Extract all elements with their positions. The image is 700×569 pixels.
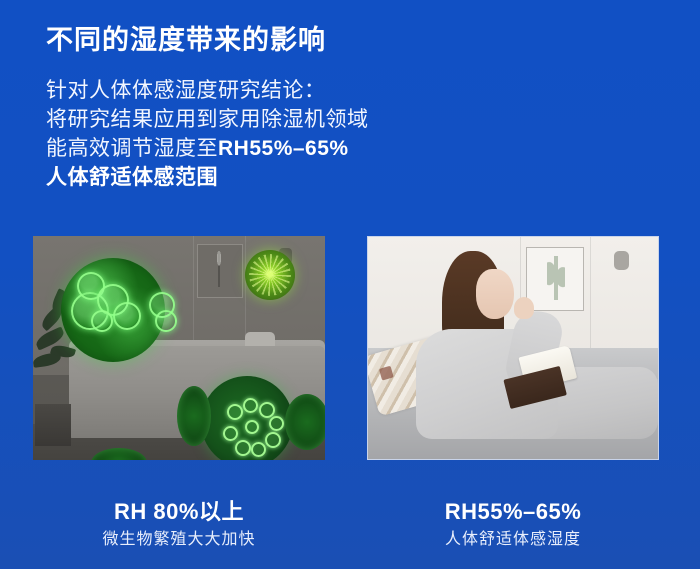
germ-partial-left xyxy=(177,386,211,446)
spore-8 xyxy=(223,426,238,441)
caption-title-left: RH 80%以上 xyxy=(33,498,325,526)
spore-7 xyxy=(235,440,251,456)
bacteria-cell-edge-2 xyxy=(155,310,177,332)
bacteria-cell-5 xyxy=(91,310,113,332)
body-copy-line-2: 将研究结果应用到家用除湿机领域 xyxy=(46,105,606,134)
bacteria-cell-4 xyxy=(113,302,141,330)
caption-sub-right: 人体舒适体感湿度 xyxy=(367,529,659,551)
woman-face xyxy=(476,269,514,319)
page-title: 不同的湿度带来的影响 xyxy=(46,18,326,57)
virus-sphere-small xyxy=(245,250,295,300)
spore-2 xyxy=(243,398,258,413)
wall-art-frame-dark xyxy=(197,244,243,298)
body-copy-line-4: 人体舒适体感范围 xyxy=(46,163,606,192)
body-copy-line-3: 能高效调节湿度至RH55%–65% xyxy=(46,134,606,163)
spore-5 xyxy=(265,432,281,448)
spore-1 xyxy=(227,404,243,420)
caption-comfort-humidity: RH55%–65% 人体舒适体感湿度 xyxy=(367,498,659,551)
bright-room-scene xyxy=(368,237,658,459)
caption-high-humidity: RH 80%以上 微生物繁殖大大加快 xyxy=(33,498,325,551)
wall-knob-bright xyxy=(614,251,629,270)
spore-9 xyxy=(245,420,259,434)
body-copy-line-1: 针对人体体感湿度研究结论： xyxy=(46,76,606,105)
spore-6 xyxy=(251,442,266,457)
cactus-artwork-icon xyxy=(547,256,565,300)
spore-sphere-bottom xyxy=(201,376,293,460)
dark-room-scene xyxy=(33,236,325,460)
spore-4 xyxy=(269,416,284,431)
photo-high-humidity xyxy=(33,236,325,460)
humidity-infographic-poster: 不同的湿度带来的影响 针对人体体感湿度研究结论： 将研究结果应用到家用除湿机领域… xyxy=(0,0,700,569)
photo-comfort-humidity xyxy=(367,236,659,460)
woman-hand xyxy=(514,297,534,319)
caption-title-right: RH55%–65% xyxy=(367,498,659,526)
body-copy-line-3-prefix: 能高效调节湿度至 xyxy=(46,137,218,160)
caption-sub-left: 微生物繁殖大大加快 xyxy=(33,529,325,551)
wall-art-frame-bright xyxy=(526,247,584,311)
pillow-accent xyxy=(379,366,394,381)
plant-pot-dark xyxy=(35,404,71,446)
body-copy-block: 针对人体体感湿度研究结论： 将研究结果应用到家用除湿机领域 能高效调节湿度至RH… xyxy=(46,76,606,192)
germ-partial-right xyxy=(285,394,325,450)
humidity-range-value: RH55%–65% xyxy=(218,137,349,160)
